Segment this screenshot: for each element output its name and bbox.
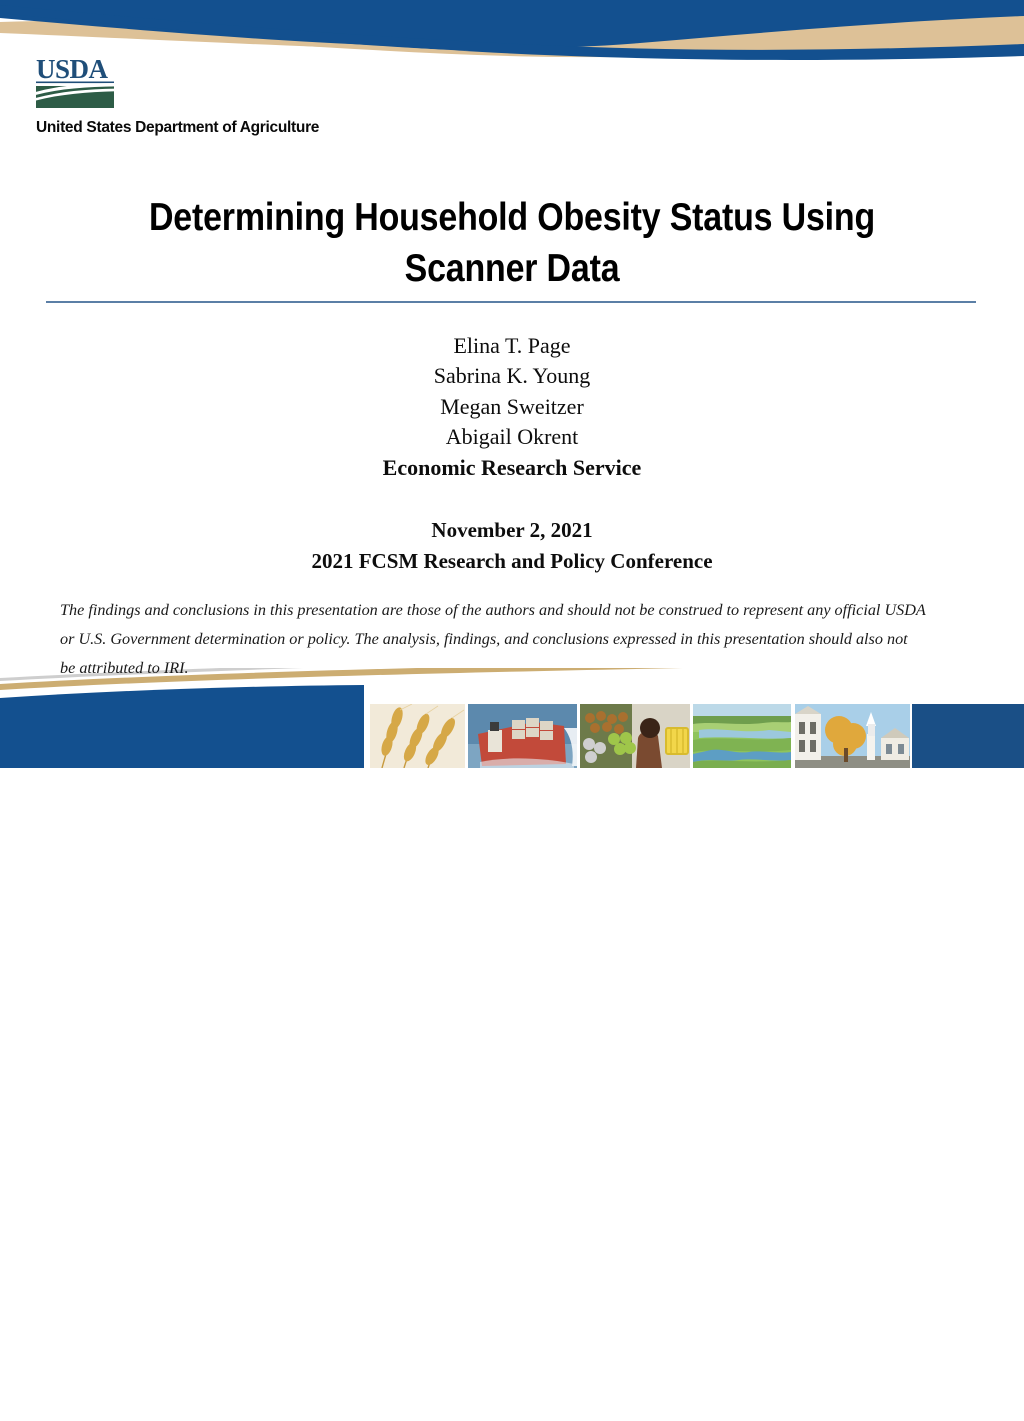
usda-logo: USDA United States Department of Agricul…	[36, 56, 319, 137]
event-block: November 2, 2021 2021 FCSM Research and …	[0, 515, 1024, 577]
author-name: Abigail Okrent	[0, 422, 1024, 452]
wetlands-photo	[693, 704, 791, 768]
usda-logo-mark: USDA	[36, 56, 116, 112]
usda-logo-wordmark: USDA	[36, 56, 109, 84]
author-name: Megan Sweitzer	[0, 392, 1024, 422]
authors-block: Elina T. Page Sabrina K. Young Megan Swe…	[0, 331, 1024, 483]
title-line-2: Scanner Data	[405, 247, 620, 290]
event-conference: 2021 FCSM Research and Policy Conference	[0, 546, 1024, 577]
usda-field-graphic	[36, 83, 116, 108]
usda-wordmark-underline	[36, 82, 114, 84]
wheat-stalks-photo	[370, 704, 465, 768]
usda-agency-tagline: United States Department of Agriculture	[36, 119, 319, 137]
title-block: Determining Household Obesity Status Usi…	[62, 192, 962, 295]
footer-website-url[interactable]: www.ers.usda.gov	[36, 1399, 322, 1421]
author-name: Sabrina K. Young	[0, 361, 1024, 391]
footer-blue-block	[0, 685, 364, 768]
footer-agency-name: Economic Research Service	[36, 1374, 322, 1399]
author-organization: Economic Research Service	[0, 453, 1024, 483]
page-title: Determining Household Obesity Status Usi…	[121, 192, 904, 295]
town-street-photo	[795, 704, 910, 768]
grocery-shopper-photo	[580, 704, 690, 768]
cargo-ship-photo	[468, 704, 577, 768]
author-name: Elina T. Page	[0, 331, 1024, 361]
disclaimer-text: The findings and conclusions in this pre…	[60, 596, 926, 683]
footer-blue-block-right	[912, 704, 1024, 768]
title-divider-rule	[46, 301, 976, 303]
title-line-1: Determining Household Obesity Status Usi…	[149, 196, 875, 239]
footer-text-group: Economic Research Service www.ers.usda.g…	[36, 1374, 322, 1421]
event-date: November 2, 2021	[0, 515, 1024, 546]
